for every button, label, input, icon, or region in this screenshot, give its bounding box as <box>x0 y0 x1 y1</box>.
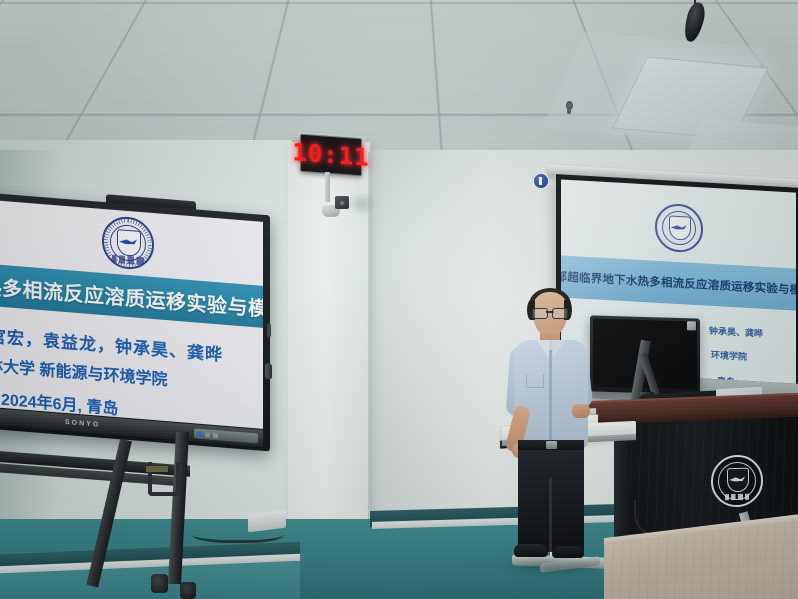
presenter <box>508 288 590 564</box>
projected-authors: 钟承昊、龚晔 <box>709 324 763 340</box>
floor-cable <box>192 522 284 543</box>
presenter-leg-seam <box>549 478 552 552</box>
presenter-belt-buckle <box>546 441 557 449</box>
digital-clock: 10:11 <box>300 134 362 177</box>
stand-caster-left <box>151 574 168 593</box>
camera-mount-pole <box>325 172 330 202</box>
pillar-cast-shadow <box>370 150 490 550</box>
camera-shadow <box>347 192 377 216</box>
power-led-icon <box>197 431 202 436</box>
monitor-label-icon <box>687 321 696 330</box>
display-side-button[interactable] <box>265 363 272 380</box>
presenter-right-hand <box>572 404 590 418</box>
jilin-university-seal-icon <box>102 215 154 271</box>
display-slide[interactable]: 水热多相流反应溶质运移实验与模拟 封官宏，袁益龙，钟承昊、龚晔 吉林大学 新能源… <box>0 200 263 429</box>
projected-title-text: 深部超临界地下水热多相流反应溶质运移实验与模拟 <box>561 268 796 299</box>
presenter-shirt-pocket <box>526 374 544 388</box>
projected-emblem-wrap <box>561 197 796 258</box>
projected-affiliation: 环境学院 <box>711 348 747 363</box>
input-led-icon <box>213 432 218 437</box>
presenter-left-shoe <box>514 544 548 557</box>
display-ir-sensor-icon <box>267 323 271 337</box>
information-sign-icon <box>533 173 549 189</box>
projected-title-band: 深部超临界地下水热多相流反应溶质运移实验与模拟 <box>561 255 796 310</box>
presenter-glasses-icon <box>532 308 568 317</box>
presenter-right-shoe <box>552 546 584 558</box>
stand-caster-right <box>180 582 196 599</box>
lectern-emblem-name <box>725 494 749 501</box>
interactive-display[interactable]: 水热多相流反应溶质运移实验与模拟 封官宏，袁益龙，钟承昊、龚晔 吉林大学 新能源… <box>0 193 270 452</box>
status-led-icon <box>205 432 210 437</box>
clock-time-display: 10:11 <box>300 134 362 177</box>
glasses-bridge <box>546 311 554 313</box>
lecture-room-photo: 深部超临界地下水热多相流反应溶质运移实验与模拟 钟承昊、龚晔 环境学院 青岛 1… <box>0 0 798 599</box>
ceiling-sensor-icon <box>566 101 573 110</box>
display-stand-bracket-bolt <box>146 466 168 472</box>
camera-lens-icon <box>339 200 345 206</box>
display-brand-label: SONYO <box>65 419 100 429</box>
presenter-shirt-placket <box>549 350 552 444</box>
university-seal-icon <box>655 203 703 254</box>
